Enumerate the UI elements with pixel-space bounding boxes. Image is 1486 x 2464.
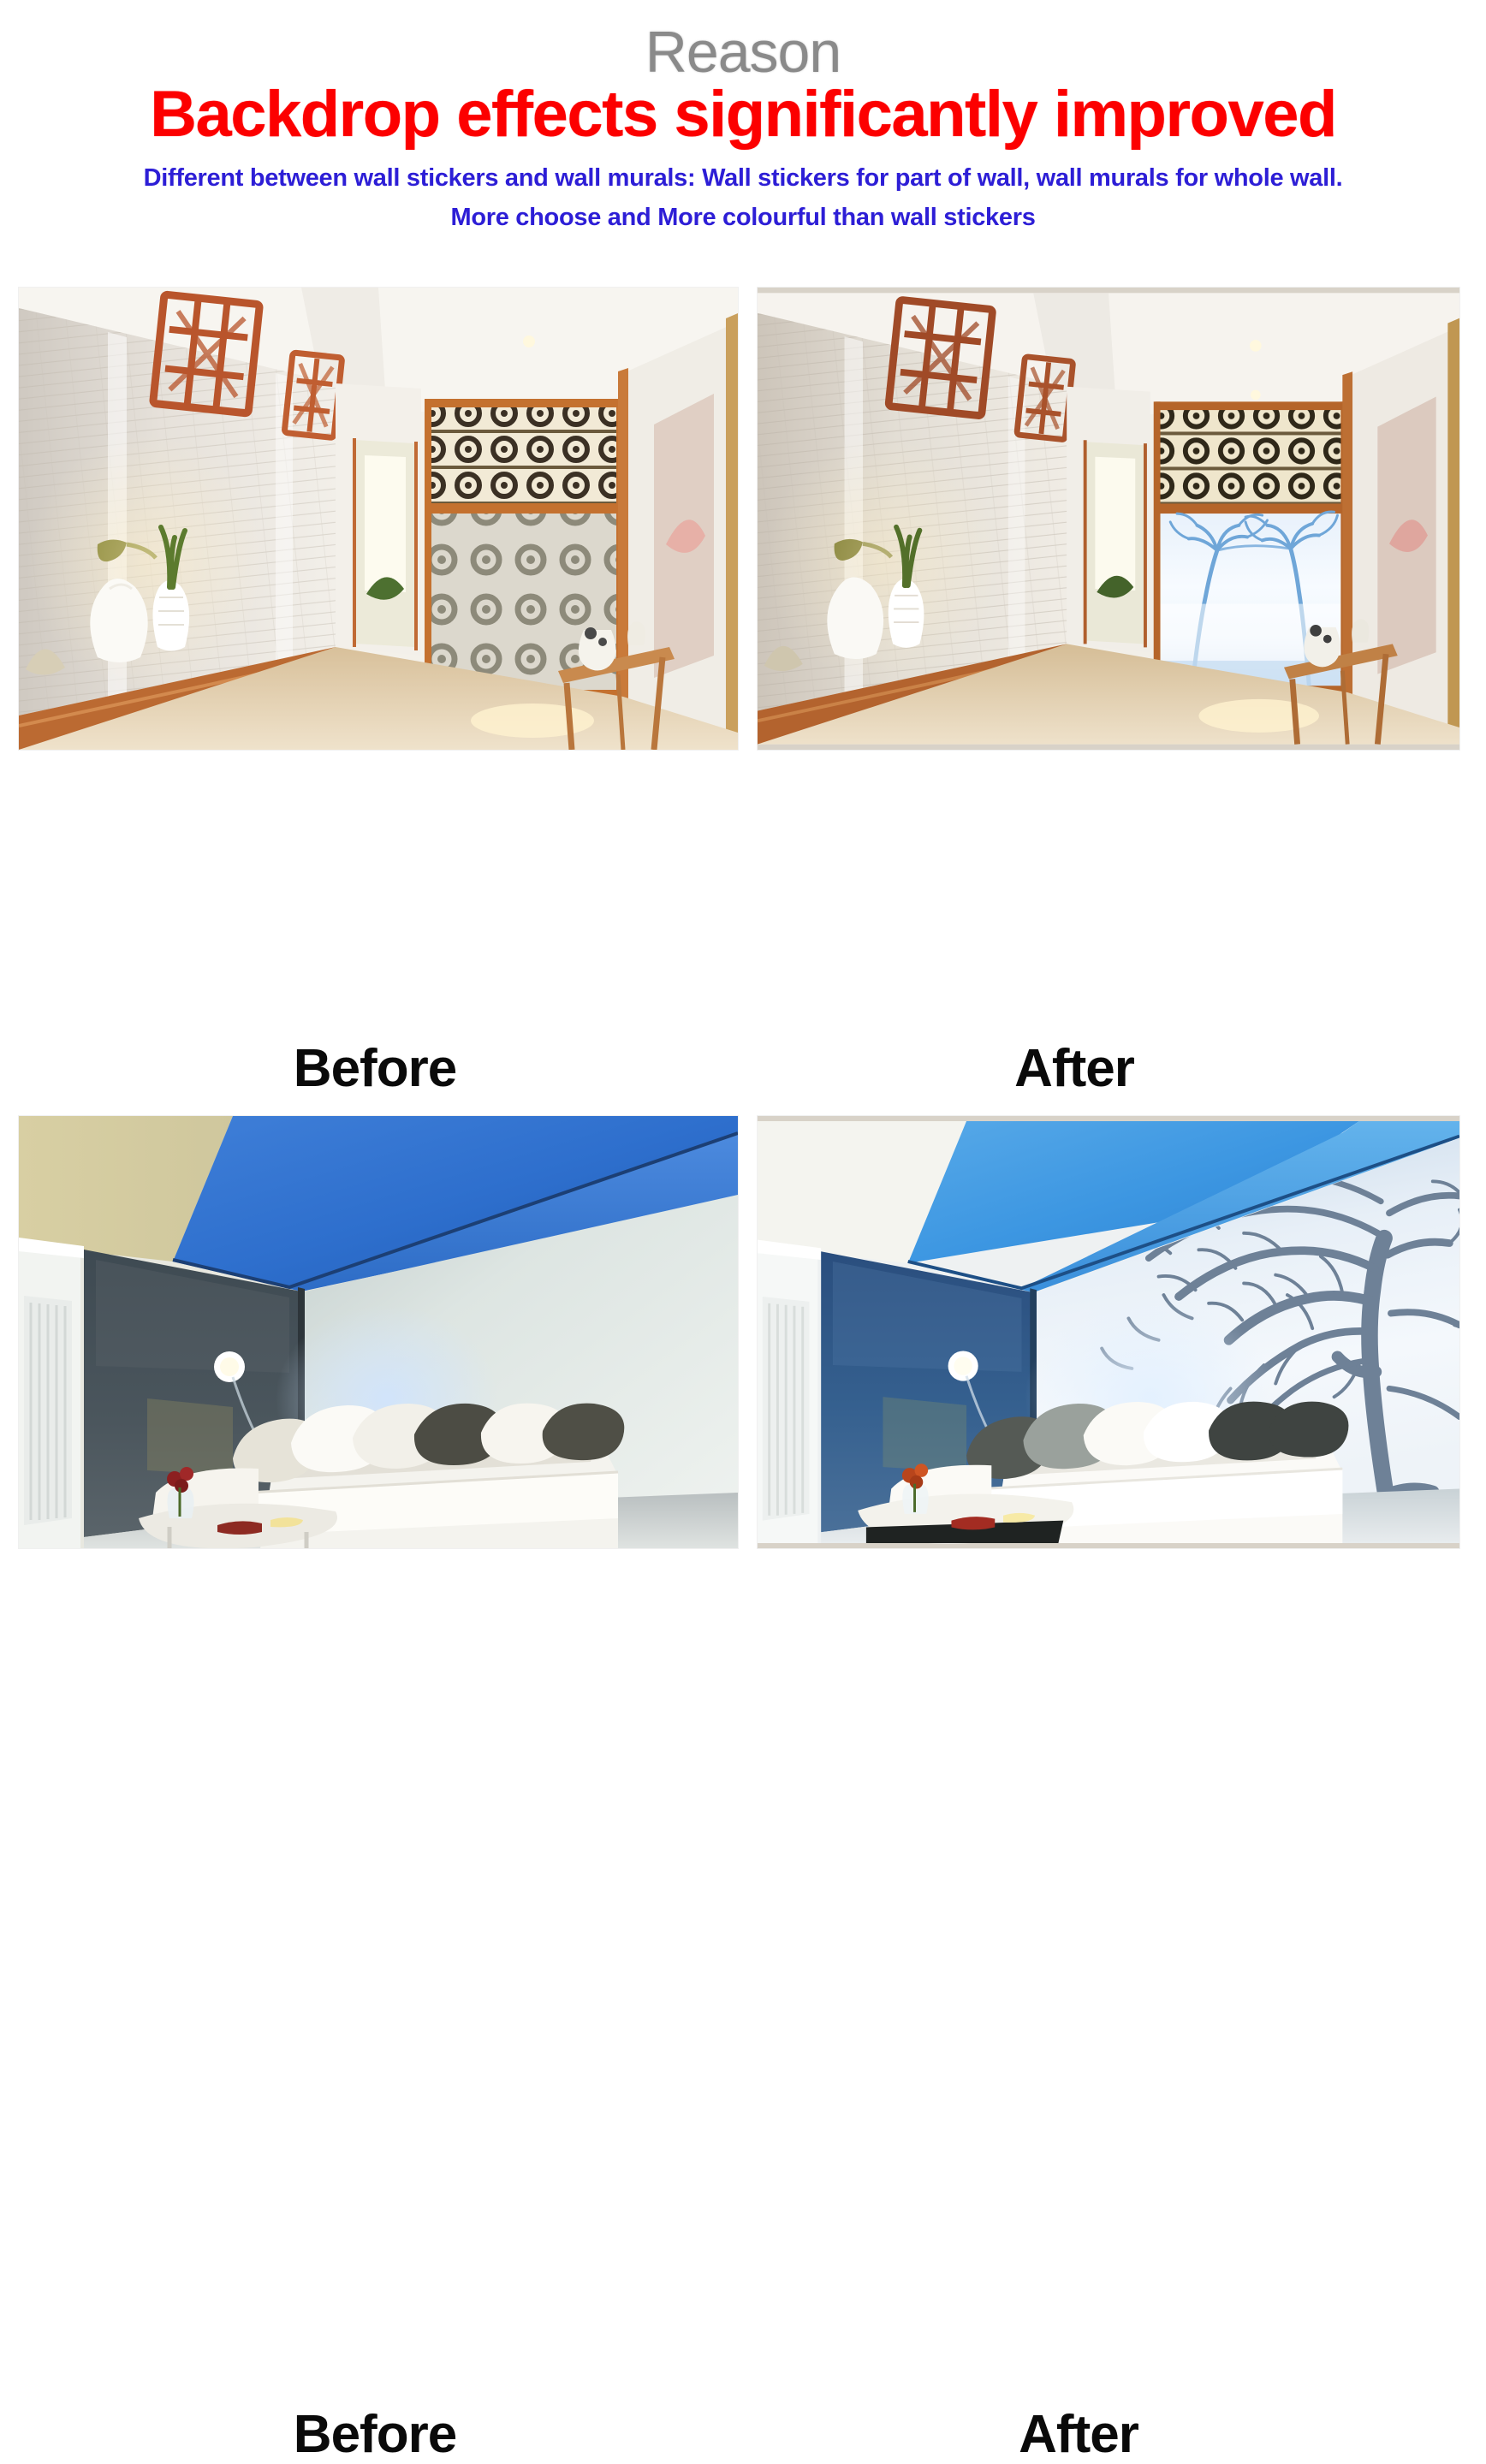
photo-living-after: [758, 1116, 1459, 1548]
hallway-before-illustration: [19, 288, 738, 750]
photo-frame: [758, 1116, 1459, 1548]
page-header: Reason Backdrop effects significantly im…: [0, 0, 1486, 235]
hallway-after-illustration: [758, 288, 1459, 750]
photo-frame: [758, 288, 1459, 750]
photo-frame: [19, 1116, 738, 1548]
caption-hallway-after: After: [903, 1041, 1245, 1097]
subtitle-line-1: Different between wall stickers and wall…: [0, 161, 1486, 195]
kicker-text: Reason: [0, 22, 1486, 86]
caption-living-before: Before: [204, 2407, 546, 2463]
comparison-grid: Before After: [0, 288, 1486, 553]
caption-hallway-before: Before: [204, 1041, 546, 1097]
flower-vase: [167, 1467, 194, 1518]
page-title: Backdrop effects significantly improved: [0, 80, 1486, 149]
flower-vase: [902, 1464, 929, 1514]
photo-living-before: [19, 1116, 738, 1548]
caption-living-after: After: [907, 2407, 1250, 2463]
comparison-row-hallway: Before After: [0, 288, 1486, 553]
living-before-illustration: [19, 1116, 738, 1548]
promo-page: Reason Backdrop effects significantly im…: [0, 0, 1486, 1369]
living-after-illustration: [758, 1116, 1459, 1548]
photo-hallway-after: [758, 288, 1459, 750]
photo-frame: [19, 288, 738, 750]
subtitle-line-2: More choose and More colourful than wall…: [0, 200, 1486, 235]
photo-hallway-before: [19, 288, 738, 750]
